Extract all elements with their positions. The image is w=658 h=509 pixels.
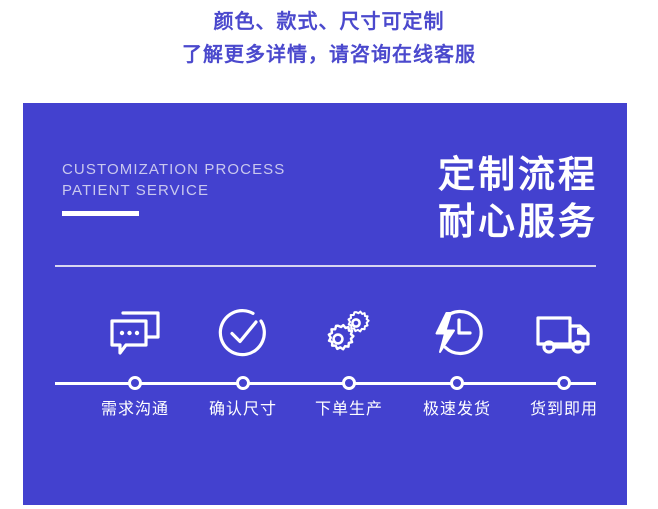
timeline-dot-4 (450, 376, 464, 390)
process-step-2-label: 确认尺寸 (183, 399, 303, 421)
eyebrow-line-1: CUSTOMIZATION PROCESS (62, 159, 285, 180)
delivery-truck-icon (504, 299, 624, 367)
gears-icon (289, 299, 409, 367)
process-step-3-label: 下单生产 (289, 399, 409, 421)
process-step-4-label: 极速发货 (397, 399, 517, 421)
timeline-dot-1 (128, 376, 142, 390)
process-step-1-label: 需求沟通 (75, 399, 195, 421)
process-step-3: 下单生产 (289, 299, 409, 367)
divider (55, 265, 596, 267)
chat-bubbles-icon (75, 299, 195, 367)
panel-title: 定制流程 耐心服务 (438, 151, 598, 245)
timeline-dot-3 (342, 376, 356, 390)
eyebrow-line-2: PATIENT SERVICE (62, 180, 285, 201)
process-step-5: 货到即用 (504, 299, 624, 367)
process-step-4: 极速发货 (397, 299, 517, 367)
heading-line-1: 颜色、款式、尺寸可定制 (0, 9, 658, 35)
heading-line-2: 了解更多详情，请咨询在线客服 (0, 42, 658, 68)
process-step-1: 需求沟通 (75, 299, 195, 367)
process-step-5-label: 货到即用 (504, 399, 624, 421)
timeline-dot-2 (236, 376, 250, 390)
accent-bar (62, 211, 139, 216)
customization-process-panel: CUSTOMIZATION PROCESS PATIENT SERVICE 定制… (23, 103, 627, 505)
panel-title-line-2: 耐心服务 (438, 198, 598, 245)
clock-bolt-icon (397, 299, 517, 367)
panel-title-line-1: 定制流程 (438, 151, 598, 198)
process-steps: 需求沟通 确认尺寸 (23, 299, 627, 449)
process-step-2: 确认尺寸 (183, 299, 303, 367)
eyebrow-text: CUSTOMIZATION PROCESS PATIENT SERVICE (62, 159, 285, 201)
timeline-dot-5 (557, 376, 571, 390)
page-heading: 颜色、款式、尺寸可定制 了解更多详情，请咨询在线客服 (0, 0, 658, 103)
check-circle-icon (183, 299, 303, 367)
